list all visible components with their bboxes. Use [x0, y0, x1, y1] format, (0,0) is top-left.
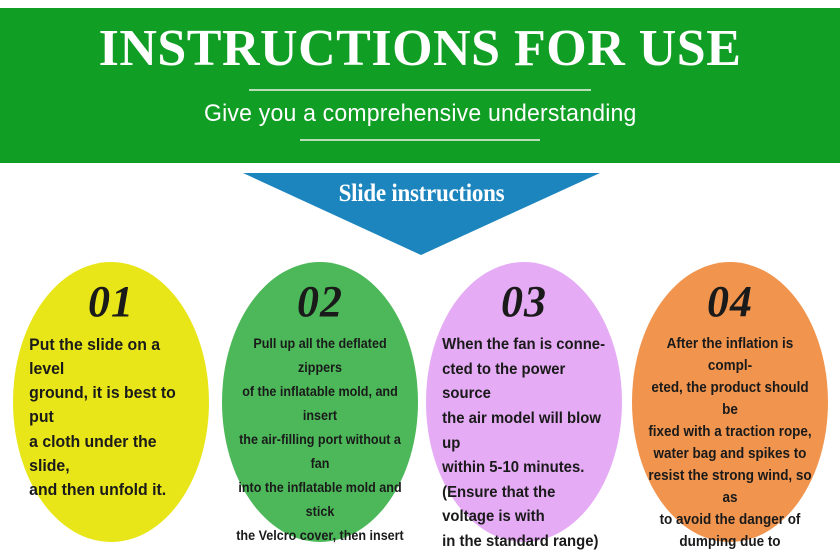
step-text-03: When the fan is conne- cted to the power… — [437, 333, 612, 553]
step-card-04: 04 After the inflation is compl- eted, t… — [632, 262, 828, 542]
section-banner-label: Slide instructions — [257, 180, 585, 208]
step-number-03: 03 — [501, 280, 547, 324]
header-divider-bottom — [300, 139, 540, 141]
step-text-04: After the inflation is compl- eted, the … — [645, 333, 814, 553]
page-subtitle: Give you a comprehensive understanding — [204, 100, 637, 128]
header-divider-top — [249, 89, 591, 91]
step-number-04: 04 — [707, 280, 753, 324]
header-banner: INSTRUCTIONS FOR USE Give you a comprehe… — [0, 8, 840, 163]
step-number-01: 01 — [88, 280, 134, 324]
instructions-infographic: INSTRUCTIONS FOR USE Give you a comprehe… — [0, 0, 840, 553]
step-card-01: 01 Put the slide on a level ground, it i… — [13, 262, 209, 542]
section-banner: Slide instructions — [243, 173, 600, 255]
step-number-02: 02 — [297, 280, 343, 324]
step-card-02: 02 Pull up all the deflated zippers of t… — [222, 262, 418, 542]
step-text-01: Put the slide on a level ground, it is b… — [24, 333, 199, 502]
page-title: INSTRUCTIONS FOR USE — [99, 22, 742, 77]
step-card-03: 03 When the fan is conne- cted to the po… — [426, 262, 622, 542]
step-text-02: Pull up all the deflated zippers of the … — [235, 332, 404, 553]
